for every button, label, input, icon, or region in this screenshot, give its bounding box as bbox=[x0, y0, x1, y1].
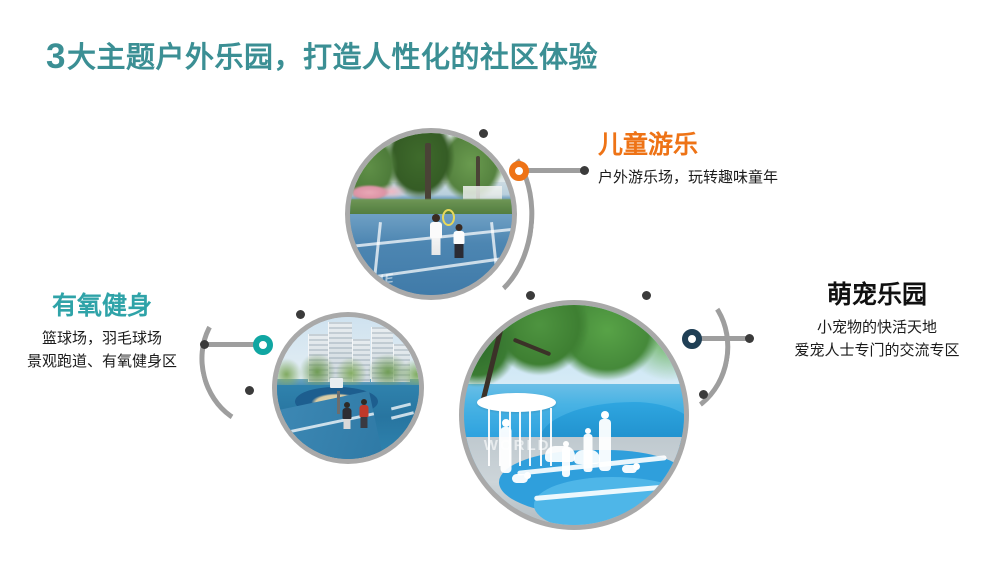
connector-pets bbox=[620, 275, 770, 415]
callout-children: 儿童游乐 户外游乐场，玩转趣味童年 bbox=[598, 132, 928, 188]
callout-subtitle-line: 户外游乐场，玩转趣味童年 bbox=[598, 167, 928, 189]
callout-title: 有氧健身 bbox=[0, 293, 204, 321]
person-silhouette bbox=[499, 419, 513, 485]
connector-arc-dot-start bbox=[642, 291, 651, 300]
lounge-seat bbox=[545, 446, 575, 462]
person-head bbox=[601, 411, 609, 419]
connector-marker-children[interactable] bbox=[509, 161, 529, 181]
basketball-hoop-pole bbox=[337, 391, 340, 414]
wall-text-world: WORLD bbox=[484, 437, 551, 454]
title-text: 大主题户外乐园，打造人性化的社区体验 bbox=[67, 42, 598, 74]
callout-subtitle-line: 篮球场，羽毛球场 bbox=[0, 328, 204, 350]
lounge-seat bbox=[574, 450, 600, 464]
callout-subtitle-line: 小宠物的快活天地 bbox=[752, 317, 1000, 339]
person-legs bbox=[343, 419, 350, 429]
person-head bbox=[502, 419, 510, 427]
callout-subtitle-line: 景观跑道、有氧健身区 bbox=[0, 351, 204, 373]
title-lead-number: 3 bbox=[46, 37, 66, 76]
connector-arc-dot-start bbox=[479, 129, 488, 138]
dog-silhouette bbox=[622, 463, 640, 489]
person-torso bbox=[359, 405, 368, 417]
callout-fitness: 有氧健身 篮球场，羽毛球场 景观跑道、有氧健身区 bbox=[0, 293, 204, 373]
connector-marker-fitness[interactable] bbox=[253, 335, 273, 355]
connector-arc-dot-end bbox=[526, 291, 535, 300]
person-torso bbox=[342, 408, 351, 419]
callout-title: 萌宠乐园 bbox=[752, 282, 1000, 310]
page-title: 3大主题户外乐园，打造人性化的社区体验 bbox=[46, 34, 598, 77]
person-body bbox=[599, 419, 611, 471]
connector-arc-dot-start bbox=[296, 310, 305, 319]
person-body bbox=[501, 427, 512, 473]
connector-line-dot bbox=[580, 166, 589, 175]
connector-children bbox=[470, 118, 610, 318]
callout-subtitle-line: 爱宠人士专门的交流专区 bbox=[752, 340, 1000, 362]
connector-arc-dot-end bbox=[699, 390, 708, 399]
callout-pets: 萌宠乐园 小宠物的快活天地 爱宠人士专门的交流专区 bbox=[752, 282, 1000, 362]
person-figure bbox=[341, 402, 353, 433]
connector-marker-pets[interactable] bbox=[682, 329, 702, 349]
dog-head bbox=[524, 472, 531, 479]
person-legs bbox=[360, 417, 367, 428]
slide-canvas: 3大主题户外乐园，打造人性化的社区体验 ONE bbox=[0, 0, 1000, 562]
connector-arc-dot-end bbox=[245, 386, 254, 395]
dog-head bbox=[633, 463, 640, 470]
person-figure bbox=[358, 399, 370, 433]
basketball-hoop-backboard bbox=[330, 378, 343, 388]
connector-arc bbox=[599, 272, 741, 429]
person-silhouette bbox=[598, 411, 612, 481]
dog-silhouette bbox=[512, 472, 530, 498]
callout-title: 儿童游乐 bbox=[598, 132, 928, 160]
